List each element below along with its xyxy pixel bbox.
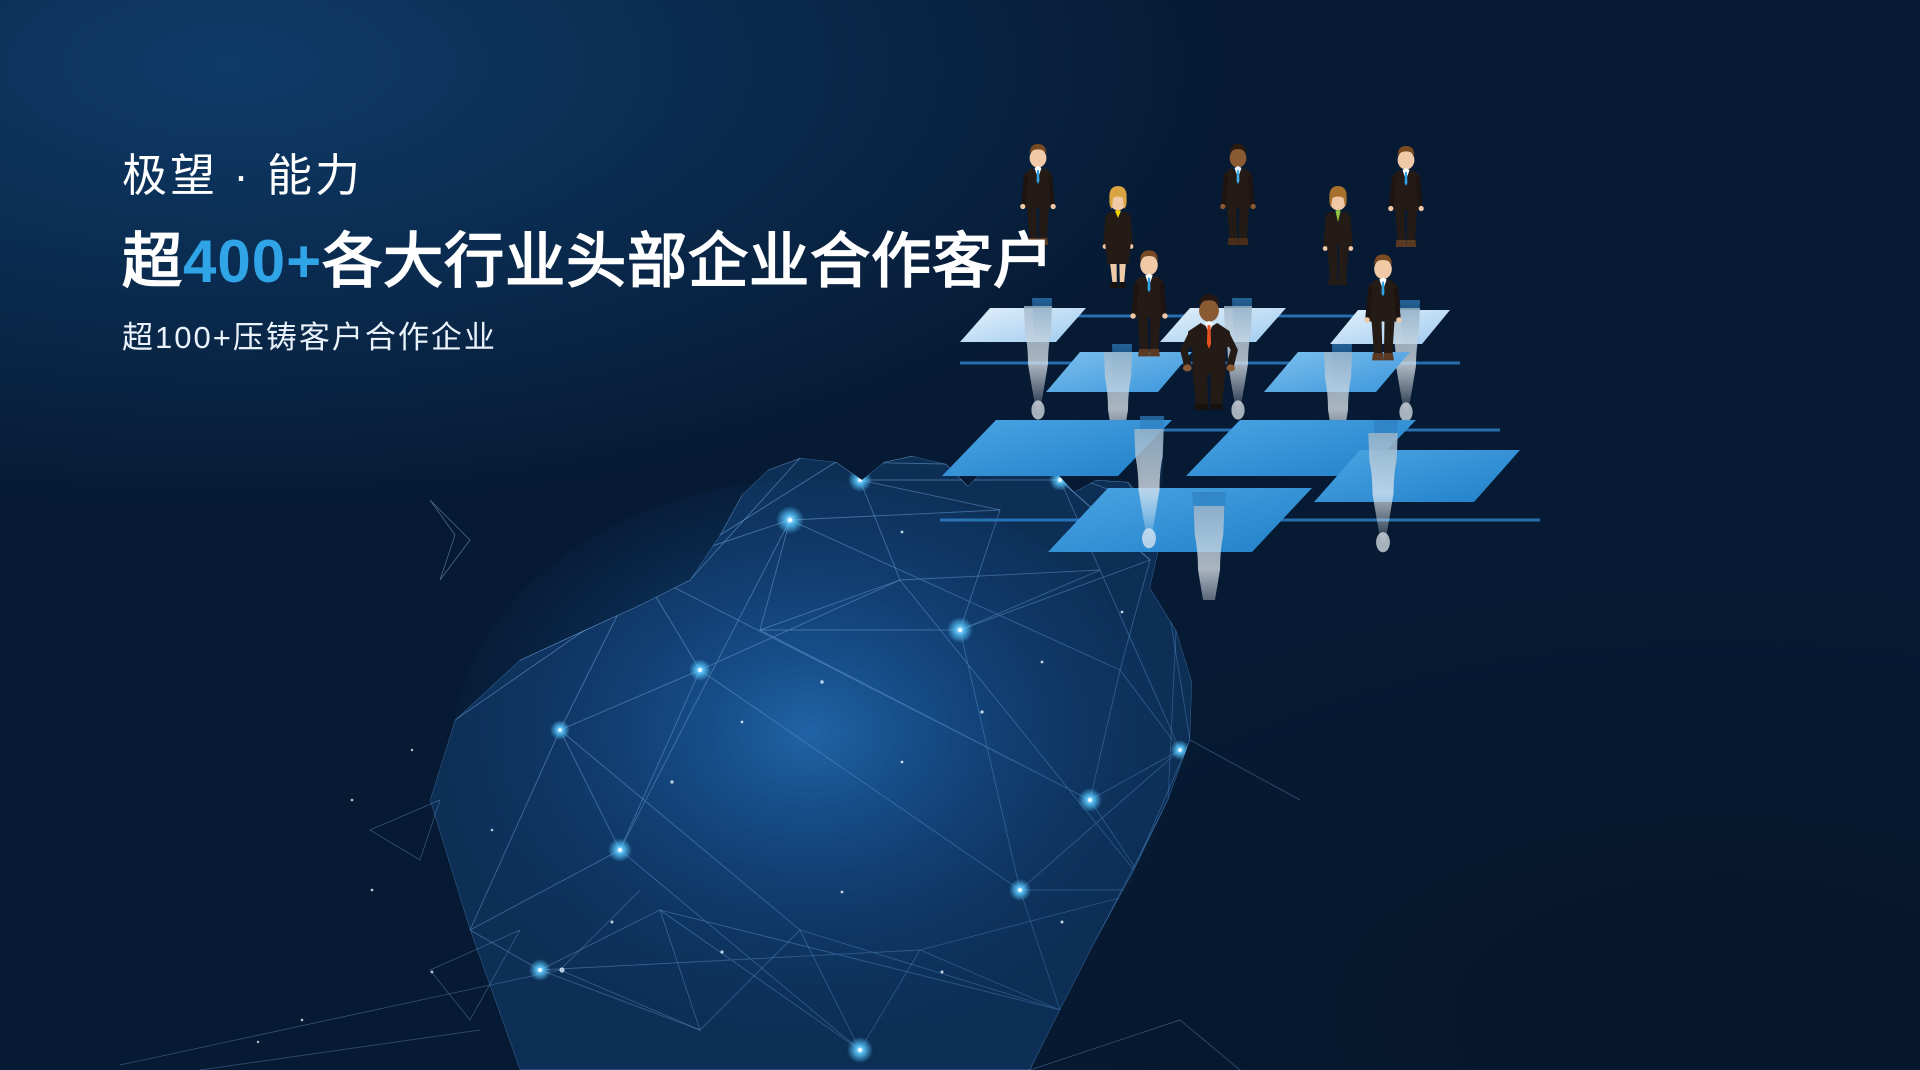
- person-figure: [1220, 144, 1256, 245]
- page-title: 超400+各大行业头部企业合作客户: [122, 228, 1054, 295]
- person-figure: [1388, 146, 1424, 247]
- headline-prefix: 超: [122, 228, 183, 295]
- hero-banner: 极望 · 能力 超400+各大行业头部企业合作客户 超100+压铸客户合作企业: [0, 0, 1920, 1070]
- page-subtitle: 超100+压铸客户合作企业: [122, 319, 1054, 356]
- eyebrow-title: 极望 · 能力: [122, 150, 1054, 202]
- headline-suffix: 各大行业头部企业合作客户: [322, 228, 1054, 295]
- hero-text-block: 极望 · 能力 超400+各大行业头部企业合作客户 超100+压铸客户合作企业: [122, 150, 1054, 356]
- platform: [1048, 488, 1312, 552]
- person-figure: [1323, 186, 1353, 285]
- person-figure: [1103, 186, 1134, 288]
- headline-accent-count: 400+: [183, 228, 322, 295]
